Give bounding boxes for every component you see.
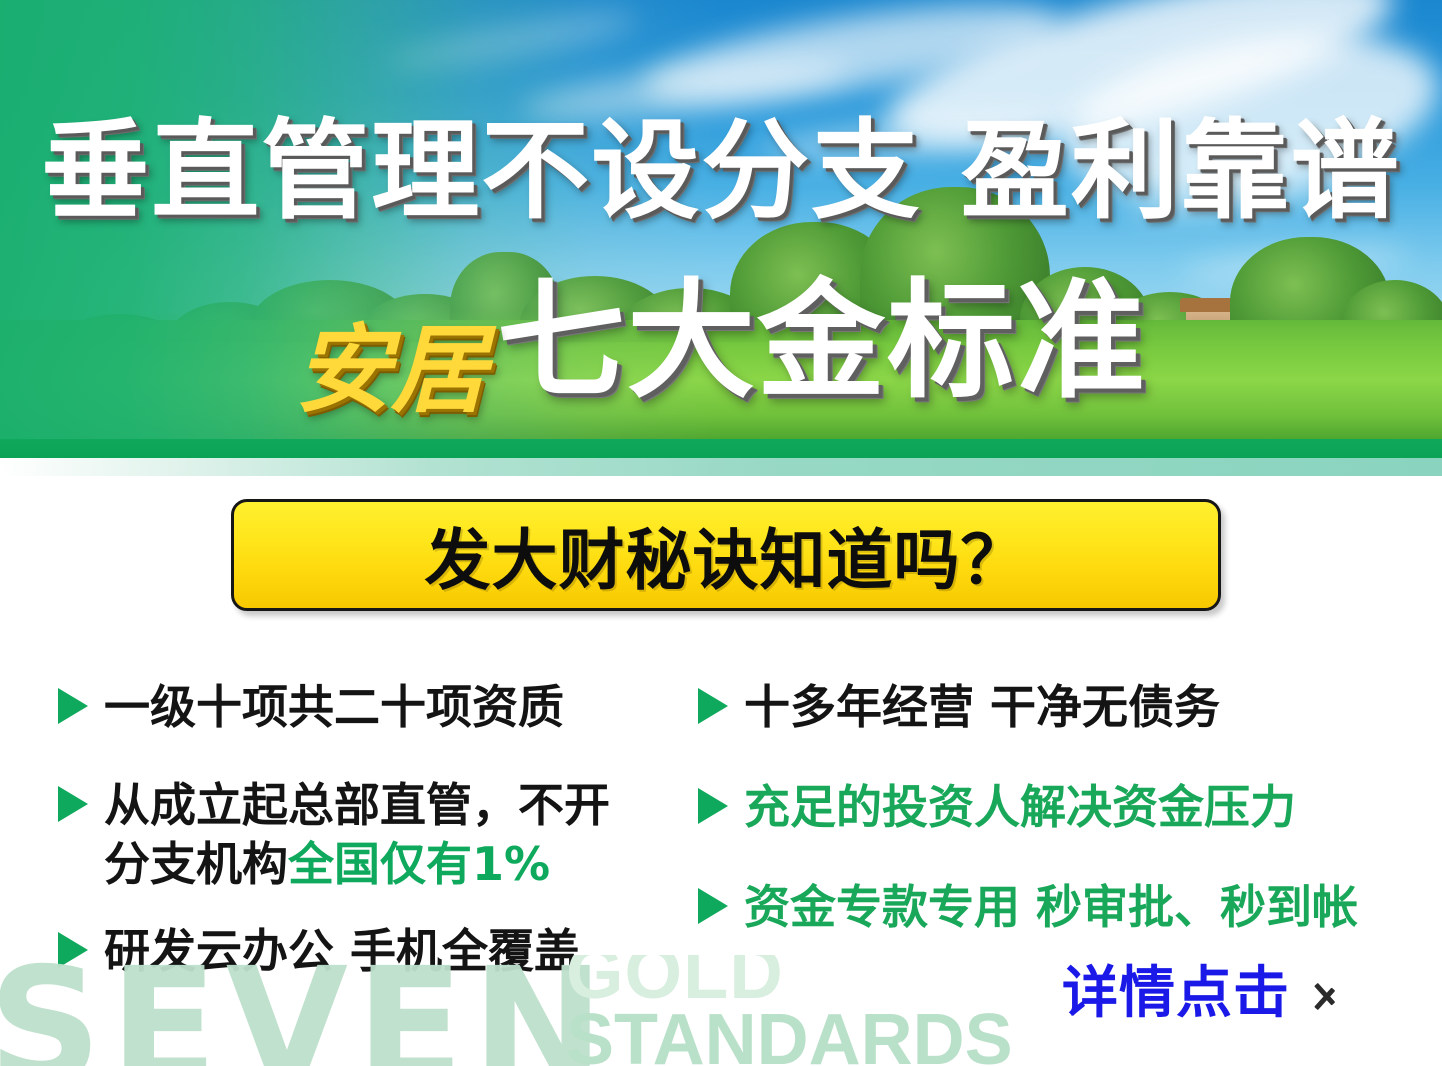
feature-item: 十多年经营 干净无债务 <box>698 678 1220 737</box>
triangle-right-icon <box>698 688 728 724</box>
triangle-right-icon <box>698 888 728 924</box>
triangle-right-icon <box>58 786 88 822</box>
feature-item: 充足的投资人解决资金压力 <box>698 778 1296 837</box>
triangle-right-icon <box>58 932 88 968</box>
feature-item: 研发云办公 手机全覆盖 <box>58 922 580 981</box>
feature-label: 从成立起总部直管，不开分支机构全国仅有1% <box>104 776 610 894</box>
feature-label-line2: 分支机构全国仅有1% <box>104 835 610 894</box>
brand-name-anju: 安居 <box>295 322 487 418</box>
chevron-right-icon <box>1312 971 1338 1017</box>
feature-label-highlight: 全国仅有1% <box>288 837 550 891</box>
promo-poster: 垂直管理不设分支 盈利靠谱 安居七大金标准 发大财秘诀知道吗？ 一级十项共二十项… <box>0 0 1442 1066</box>
triangle-right-icon <box>698 788 728 824</box>
triangle-right-icon <box>58 688 88 724</box>
feature-list: 一级十项共二十项资质 从成立起总部直管，不开分支机构全国仅有1% 研发云办公 手… <box>0 660 1442 990</box>
hook-banner-label: 发大财秘诀知道吗？ <box>425 507 1028 603</box>
hero-fade-strip <box>0 458 1442 476</box>
feature-label: 十多年经营 干净无债务 <box>744 678 1220 737</box>
feature-label: 研发云办公 手机全覆盖 <box>104 922 580 981</box>
details-cta-label: 详情点击 <box>1062 966 1290 1022</box>
details-cta-button[interactable]: 详情点击 <box>1062 966 1338 1022</box>
hook-banner[interactable]: 发大财秘诀知道吗？ <box>231 499 1221 611</box>
feature-item: 从成立起总部直管，不开分支机构全国仅有1% <box>58 776 610 894</box>
hero-banner: 垂直管理不设分支 盈利靠谱 安居七大金标准 <box>0 0 1442 458</box>
feature-label: 一级十项共二十项资质 <box>104 678 564 737</box>
hero-headline: 垂直管理不设分支 盈利靠谱 <box>0 118 1442 226</box>
feature-label: 充足的投资人解决资金压力 <box>744 778 1296 837</box>
feature-item: 资金专款专用 秒审批、秒到帐 <box>698 878 1358 937</box>
feature-label-line2-plain: 分支机构 <box>104 837 288 891</box>
feature-label-line1: 从成立起总部直管，不开 <box>104 778 610 832</box>
feature-label: 资金专款专用 秒审批、秒到帐 <box>744 878 1358 937</box>
hero-subline: 安居七大金标准 <box>0 278 1442 406</box>
feature-item: 一级十项共二十项资质 <box>58 678 564 737</box>
hero-sub-title: 七大金标准 <box>497 278 1147 406</box>
watermark-standards: STANDARDS <box>566 1007 1013 1066</box>
hero-bottom-strip <box>0 439 1442 458</box>
